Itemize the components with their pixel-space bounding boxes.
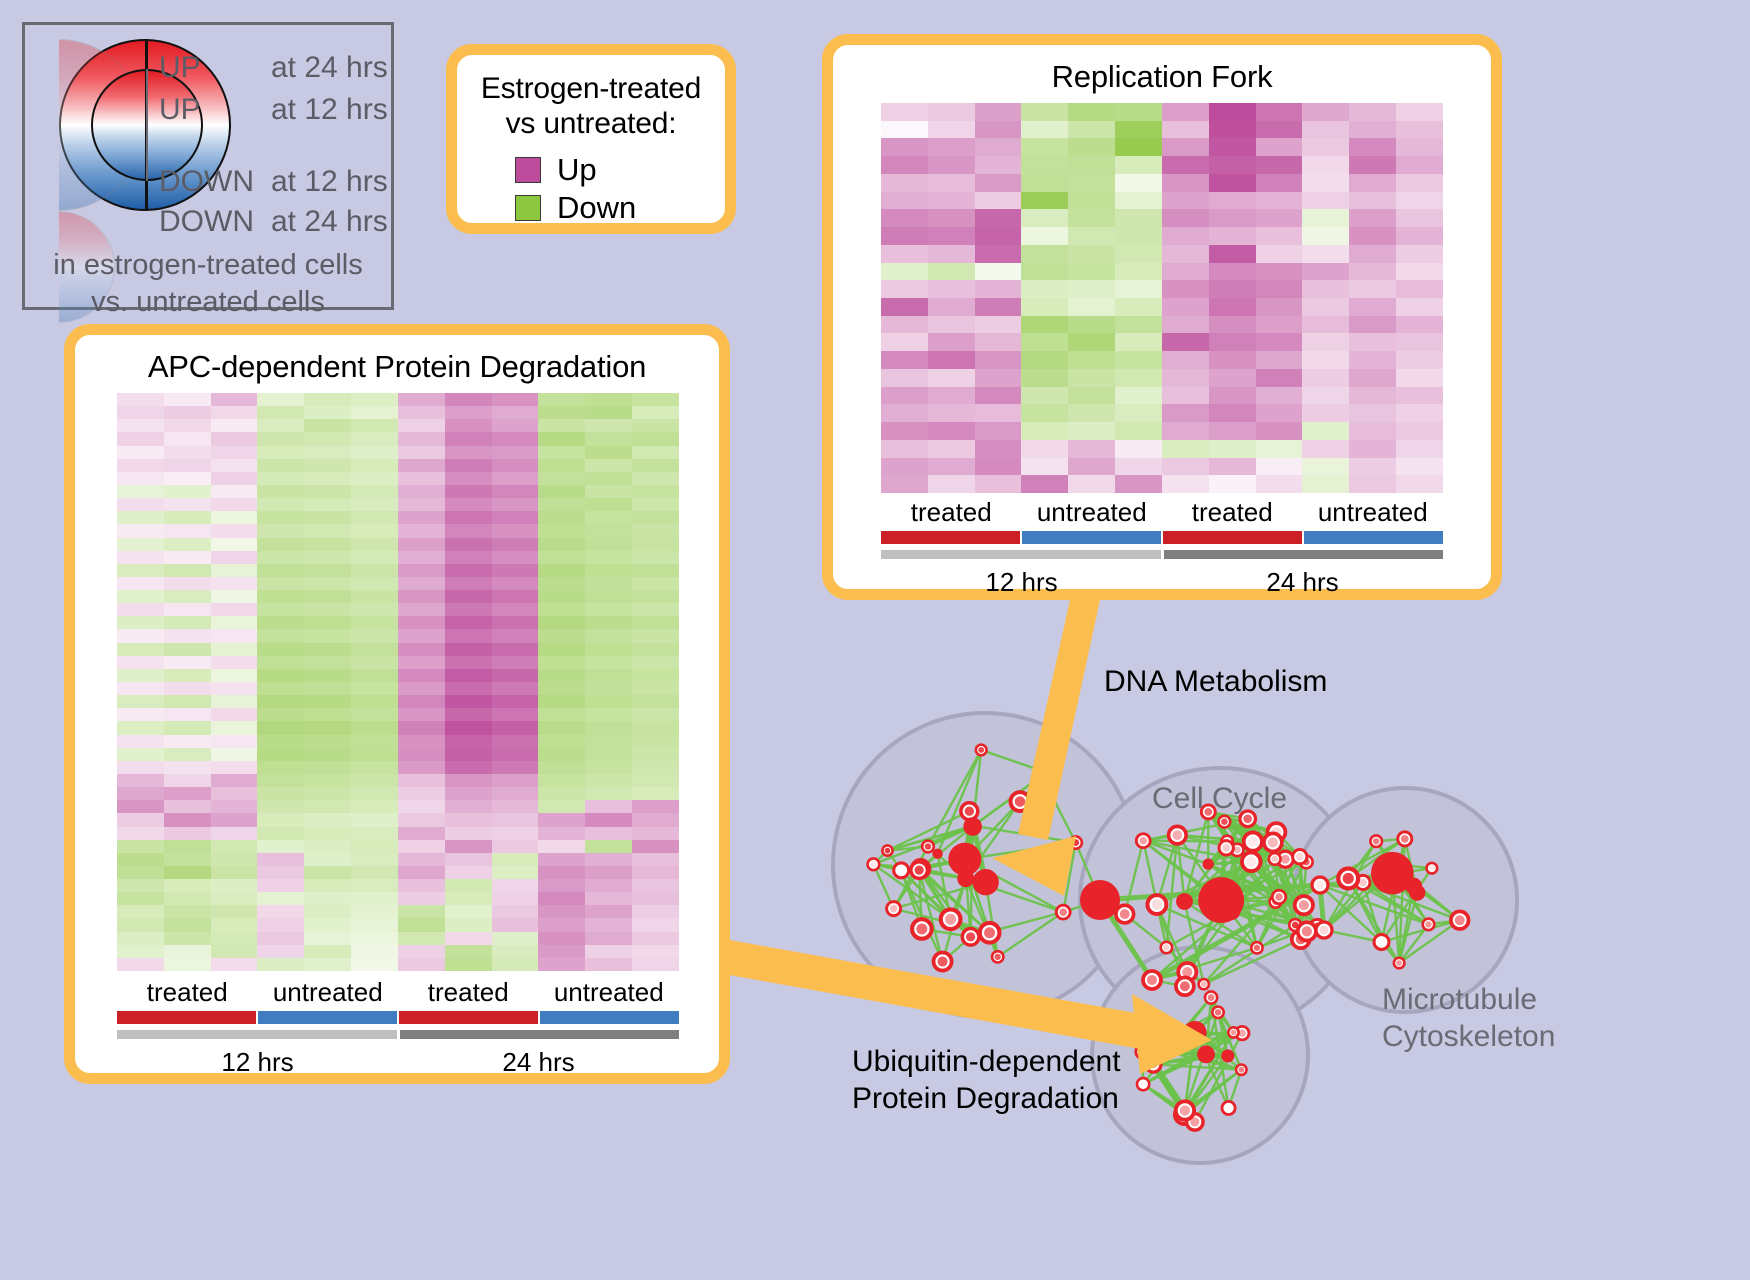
heatmap-cell	[1209, 280, 1256, 298]
network-node-core	[1343, 873, 1354, 884]
heatmap-cell	[164, 419, 211, 432]
heatmap-cell	[1302, 209, 1349, 227]
key-direction-label: UP	[159, 93, 271, 127]
heatmap-cell	[445, 446, 492, 459]
heatmap-cell	[1302, 245, 1349, 263]
heatmap-cell	[1021, 369, 1068, 387]
heatmap-cell	[1162, 227, 1209, 245]
heatmap-cell	[632, 958, 679, 971]
heatmap-cell	[257, 879, 304, 892]
heatmap-cell	[538, 472, 585, 485]
heatmap-cell	[492, 643, 539, 656]
heatmap-cell	[492, 813, 539, 826]
heatmap-cell	[1302, 138, 1349, 156]
heatmap-cell	[257, 551, 304, 564]
heatmap-cell	[492, 945, 539, 958]
network-node-core	[1139, 837, 1147, 845]
heatmap-cell	[211, 564, 258, 577]
heatmap-cell	[1396, 156, 1443, 174]
heatmap-cell	[164, 735, 211, 748]
heatmap-cell	[1256, 369, 1303, 387]
network-node[interactable]	[957, 870, 974, 887]
heatmap-cell	[257, 629, 304, 642]
heatmap-cell	[881, 174, 928, 192]
heatmap-cell	[211, 892, 258, 905]
heatmap-cell	[445, 905, 492, 918]
heatmap-cell	[1396, 298, 1443, 316]
heatmap-cell	[117, 932, 164, 945]
heatmap-cell	[304, 748, 351, 761]
heatmap-cell	[881, 316, 928, 334]
heatmap-cell	[117, 721, 164, 734]
heatmap-cell	[1162, 333, 1209, 351]
heatmap-cell	[632, 446, 679, 459]
key-row-up-12: UPat 12 hrs	[159, 93, 388, 127]
heatmap-cell	[1349, 263, 1396, 281]
time-bar-24-hrs	[400, 1030, 680, 1039]
heatmap-cell	[538, 577, 585, 590]
heatmap-cell	[1021, 333, 1068, 351]
heatmap-cell	[211, 905, 258, 918]
time-bar-12-hrs	[881, 550, 1161, 559]
heatmap-cell	[445, 761, 492, 774]
heatmap-cell	[538, 800, 585, 813]
heatmap-cell	[1209, 245, 1256, 263]
axis-apc: treateduntreatedtreateduntreated12 hrs24…	[117, 977, 679, 1078]
network-node[interactable]	[1183, 1021, 1207, 1045]
heatmap-cell	[492, 800, 539, 813]
network-node-core	[1163, 944, 1169, 950]
heatmap-cell	[164, 472, 211, 485]
legend-item-label: Up	[557, 152, 597, 188]
heatmap-cell	[585, 446, 632, 459]
heatmap-cell	[632, 564, 679, 577]
key-row-down-24: DOWNat 24 hrs	[159, 205, 388, 239]
heatmap-cell	[257, 905, 304, 918]
heatmap-cell	[445, 485, 492, 498]
heatmap-cell	[585, 393, 632, 406]
heatmap-cell	[351, 603, 398, 616]
network-node-core	[1299, 900, 1309, 910]
treatment-bar-row	[881, 531, 1443, 544]
heatmap-cell	[398, 511, 445, 524]
network-svg	[780, 600, 1740, 1280]
heatmap-cell	[881, 121, 928, 139]
heatmap-cell	[1115, 156, 1162, 174]
heatmap-cell	[928, 227, 975, 245]
heatmap-cell	[1068, 298, 1115, 316]
heatmap-cell	[492, 590, 539, 603]
heatmap-cell	[632, 419, 679, 432]
heatmap-cell	[1302, 440, 1349, 458]
heatmap-cell	[117, 538, 164, 551]
heatmap-cell	[1021, 156, 1068, 174]
heatmap-cell	[117, 853, 164, 866]
heatmap-cell	[1302, 121, 1349, 139]
heatmap-cell	[398, 406, 445, 419]
heatmap-cell	[1396, 404, 1443, 422]
heatmap-cell	[585, 577, 632, 590]
heatmap-cell	[538, 721, 585, 734]
heatmap-cell	[1302, 192, 1349, 210]
heatmap-cell	[304, 827, 351, 840]
heatmap-cell	[585, 511, 632, 524]
heatmap-cell	[1349, 245, 1396, 263]
heatmap-cell	[164, 787, 211, 800]
heatmap-cell	[257, 958, 304, 971]
heatmap-cell	[257, 761, 304, 774]
heatmap-cell	[1021, 280, 1068, 298]
heatmap-cell	[632, 827, 679, 840]
treated-bar	[117, 1011, 256, 1024]
heatmap-cell	[304, 761, 351, 774]
heatmap-cell	[1256, 209, 1303, 227]
heatmap-cell	[445, 538, 492, 551]
heatmap-cell	[538, 406, 585, 419]
apc-panel: APC-dependent Protein Degradation treate…	[64, 324, 730, 1084]
heatmap-cell	[632, 879, 679, 892]
heatmap-cell	[928, 333, 975, 351]
heatmap-cell	[1302, 422, 1349, 440]
heatmap-cell	[164, 551, 211, 564]
network-node[interactable]	[932, 849, 942, 859]
network-node-core	[1248, 837, 1258, 847]
heatmap-cell	[1349, 209, 1396, 227]
heatmap-cell	[1396, 333, 1443, 351]
heatmap-cell	[211, 932, 258, 945]
replication-fork-panel: Replication Fork treateduntreatedtreated…	[822, 34, 1502, 600]
network-node-core	[916, 923, 927, 934]
network-node[interactable]	[1176, 893, 1193, 910]
heatmap-cell	[1068, 209, 1115, 227]
network-node[interactable]	[1203, 859, 1214, 870]
heatmap-cell	[1396, 138, 1443, 156]
heatmap-cell	[304, 669, 351, 682]
heatmap-cell	[632, 524, 679, 537]
heatmap-cell	[445, 774, 492, 787]
heatmap-cell	[632, 945, 679, 958]
heatmap-cell	[632, 616, 679, 629]
heatmap-cell	[211, 774, 258, 787]
heatmap-cell	[632, 669, 679, 682]
network-node[interactable]	[973, 869, 999, 895]
heatmap-cell	[881, 440, 928, 458]
heatmap-cell	[492, 721, 539, 734]
heatmap-cell	[304, 853, 351, 866]
network-node[interactable]	[966, 818, 981, 833]
heatmap-cell	[164, 866, 211, 879]
heatmap-cell	[304, 695, 351, 708]
heatmap-cell	[1209, 458, 1256, 476]
heatmap-cell	[398, 932, 445, 945]
heatmap-cell	[1396, 458, 1443, 476]
heatmap-cell	[398, 866, 445, 879]
network-node-core	[1215, 1009, 1221, 1015]
heatmap-cell	[632, 708, 679, 721]
heatmap-cell	[881, 192, 928, 210]
heatmap-cell	[585, 721, 632, 734]
heatmap-cell	[304, 524, 351, 537]
heatmap-cell	[257, 577, 304, 590]
heatmap-cell	[257, 419, 304, 432]
heatmap-cell	[492, 774, 539, 787]
heatmap-cell	[257, 774, 304, 787]
heatmap-cell	[445, 616, 492, 629]
heatmap-cell	[1349, 103, 1396, 121]
heatmap-cell	[398, 459, 445, 472]
heatmap-cell	[585, 616, 632, 629]
heatmap-cell	[211, 485, 258, 498]
heatmap-cell	[538, 656, 585, 669]
heatmap-cell	[1209, 387, 1256, 405]
heatmap-cell	[398, 761, 445, 774]
heatmap-cell	[1209, 227, 1256, 245]
heatmap-cell	[1021, 121, 1068, 139]
heatmap-cell	[538, 932, 585, 945]
heatmap-cell	[211, 840, 258, 853]
heatmap-cell	[398, 735, 445, 748]
heatmap-cell	[164, 406, 211, 419]
heatmap-cell	[928, 440, 975, 458]
heatmap-cell	[975, 103, 1022, 121]
heatmap-cell	[211, 524, 258, 537]
heatmap-cell	[304, 577, 351, 590]
network-node[interactable]	[1223, 903, 1240, 920]
heatmap-cell	[445, 866, 492, 879]
network-node[interactable]	[1080, 880, 1120, 920]
heatmap-cell	[211, 695, 258, 708]
heatmap-cell	[1021, 440, 1068, 458]
heatmap-cell	[1162, 298, 1209, 316]
key-time-label: at 24 hrs	[271, 51, 388, 84]
heatmap-cell	[351, 774, 398, 787]
heatmap-cell	[1021, 209, 1068, 227]
heatmap-cell	[351, 472, 398, 485]
heatmap-cell	[632, 932, 679, 945]
heatmap-cell	[398, 551, 445, 564]
heatmap-cell	[304, 932, 351, 945]
heatmap-cell	[1209, 351, 1256, 369]
key-direction-label: DOWN	[159, 205, 271, 239]
time-label: 24 hrs	[398, 1039, 679, 1078]
heatmap-cell	[164, 446, 211, 459]
heatmap-cell	[538, 564, 585, 577]
network-node-core	[1180, 981, 1190, 991]
heatmap-cell	[257, 787, 304, 800]
legend-item-up: Up	[515, 152, 725, 188]
heatmap-cell	[1115, 192, 1162, 210]
heatmap-cell	[304, 616, 351, 629]
network-node[interactable]	[1409, 885, 1425, 901]
heatmap-cell	[445, 432, 492, 445]
heatmap-cell	[585, 735, 632, 748]
heatmap-cell	[1162, 103, 1209, 121]
treated-bar	[399, 1011, 538, 1024]
heatmap-cell	[632, 748, 679, 761]
heatmap-cell	[1162, 316, 1209, 334]
heatmap-cell	[351, 932, 398, 945]
heatmap-cell	[398, 643, 445, 656]
heatmap-cell	[492, 695, 539, 708]
heatmap-cell	[928, 475, 975, 493]
heatmap-cell	[1396, 121, 1443, 139]
heatmap-cell	[1209, 369, 1256, 387]
heatmap-cell	[1349, 369, 1396, 387]
heatmap-cell	[1256, 121, 1303, 139]
heatmap-cell	[398, 498, 445, 511]
heatmap-cell	[398, 577, 445, 590]
heatmap-cell	[164, 958, 211, 971]
heatmap-cell	[445, 603, 492, 616]
heatmap-replication-fork	[881, 103, 1443, 493]
heatmap-cell	[492, 472, 539, 485]
cluster-label-line1: Microtubule	[1382, 982, 1555, 1019]
heatmap-cell	[117, 656, 164, 669]
network-node-core	[984, 927, 995, 938]
heatmap-cell	[1162, 174, 1209, 192]
network-node-core	[1281, 855, 1290, 864]
heatmap-cell	[632, 774, 679, 787]
heatmap-cell	[398, 708, 445, 721]
heatmap-cell	[445, 472, 492, 485]
heatmap-cell	[304, 393, 351, 406]
heatmap-cell	[1068, 404, 1115, 422]
heatmap-cell	[1349, 316, 1396, 334]
time-label-row: 12 hrs24 hrs	[117, 1039, 679, 1078]
heatmap-cell	[492, 564, 539, 577]
heatmap-cell	[117, 905, 164, 918]
heatmap-cell	[398, 419, 445, 432]
heatmap-cell	[538, 787, 585, 800]
heatmap-cell	[632, 485, 679, 498]
heatmap-cell	[492, 511, 539, 524]
heatmap-cell	[257, 892, 304, 905]
heatmap-cell	[538, 446, 585, 459]
heatmap-cell	[585, 590, 632, 603]
heatmap-cell	[632, 629, 679, 642]
heatmap-cell	[164, 813, 211, 826]
heatmap-cell	[1162, 192, 1209, 210]
heatmap-cell	[445, 682, 492, 695]
cluster-label-ubiquitin-protein-degradation: Ubiquitin-dependent Protein Degradation	[852, 1044, 1121, 1117]
heatmap-cell	[538, 603, 585, 616]
heatmap-cell	[881, 209, 928, 227]
heatmap-cell	[881, 156, 928, 174]
heatmap-cell	[538, 498, 585, 511]
untreated-bar	[1304, 531, 1443, 544]
heatmap-cell	[928, 387, 975, 405]
heatmap-cell	[257, 524, 304, 537]
network-node-core	[978, 747, 984, 753]
network-node[interactable]	[1197, 1045, 1215, 1063]
heatmap-cell	[585, 787, 632, 800]
heatmap-cell	[1162, 351, 1209, 369]
heatmap-cell	[928, 138, 975, 156]
heatmap-cell	[1302, 298, 1349, 316]
network-node-core	[1455, 915, 1465, 925]
heatmap-cell	[304, 656, 351, 669]
heatmap-cell	[1162, 387, 1209, 405]
up-color-swatch	[515, 157, 541, 183]
heatmap-cell	[351, 853, 398, 866]
heatmap-cell	[211, 958, 258, 971]
heatmap-cell	[975, 387, 1022, 405]
heatmap-cell	[257, 485, 304, 498]
legend-items: Up Down	[515, 152, 725, 226]
heatmap-cell	[211, 472, 258, 485]
heatmap-cell	[1256, 458, 1303, 476]
heatmap-cell	[1349, 422, 1396, 440]
heatmap-cell	[1021, 458, 1068, 476]
heatmap-cell	[1209, 475, 1256, 493]
heatmap-cell	[1349, 227, 1396, 245]
heatmap-cell	[164, 918, 211, 931]
heatmap-cell	[257, 866, 304, 879]
heatmap-cell	[632, 643, 679, 656]
heatmap-cell	[117, 564, 164, 577]
heatmap-cell	[117, 629, 164, 642]
treated-bar	[1163, 531, 1302, 544]
heatmap-cell	[164, 643, 211, 656]
heatmap-cell	[1302, 387, 1349, 405]
network-node[interactable]	[1221, 1049, 1234, 1062]
heatmap-cell	[211, 643, 258, 656]
heatmap-cell	[117, 866, 164, 879]
heatmap-cell	[1115, 209, 1162, 227]
heatmap-cell	[1162, 422, 1209, 440]
network-node-core	[966, 932, 975, 941]
heatmap-cell	[398, 629, 445, 642]
heatmap-cell	[1021, 298, 1068, 316]
heatmap-cell	[445, 892, 492, 905]
heatmap-cell	[211, 498, 258, 511]
network-node-core	[1316, 881, 1325, 890]
network-node-core	[945, 914, 956, 925]
heatmap-cell	[492, 459, 539, 472]
key-time-label: at 24 hrs	[271, 205, 388, 238]
heatmap-cell	[257, 446, 304, 459]
heatmap-cell	[881, 227, 928, 245]
heatmap-cell	[1256, 333, 1303, 351]
heatmap-cell	[304, 419, 351, 432]
panel-title-replication-fork: Replication Fork	[833, 45, 1491, 95]
heatmap-cell	[211, 827, 258, 840]
network-node-core	[1165, 1049, 1171, 1055]
heatmap-cell	[492, 432, 539, 445]
network-node-core	[1059, 908, 1067, 916]
heatmap-cell	[445, 419, 492, 432]
heatmap-cell	[1115, 298, 1162, 316]
heatmap-cell	[928, 351, 975, 369]
heatmap-cell	[585, 945, 632, 958]
heatmap-cell	[632, 695, 679, 708]
heatmap-cell	[257, 840, 304, 853]
heatmap-cell	[492, 892, 539, 905]
heatmap-cell	[538, 616, 585, 629]
heatmap-cell	[304, 472, 351, 485]
heatmap-cell	[211, 616, 258, 629]
network-node-core	[1268, 837, 1278, 847]
heatmap-cell	[1396, 369, 1443, 387]
heatmap-cell	[1068, 280, 1115, 298]
heatmap-cell	[632, 721, 679, 734]
heatmap-cell	[304, 813, 351, 826]
heatmap-cell	[1021, 316, 1068, 334]
heatmap-cell	[1302, 103, 1349, 121]
heatmap-cell	[492, 656, 539, 669]
heatmap-cell	[164, 695, 211, 708]
heatmap-cell	[928, 174, 975, 192]
